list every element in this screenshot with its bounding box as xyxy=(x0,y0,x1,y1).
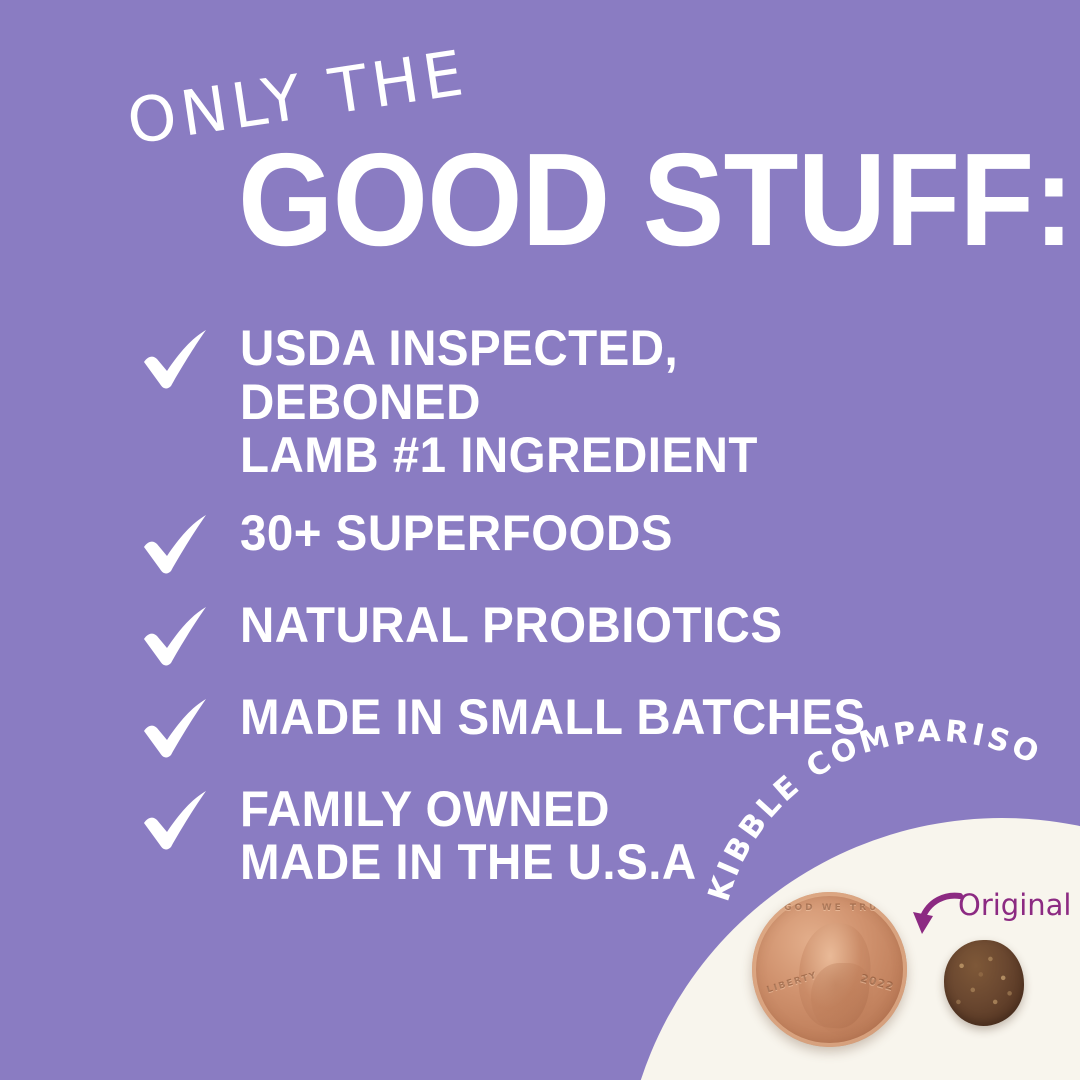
kibble-piece-image xyxy=(944,940,1024,1026)
list-item: 30+ SUPERFOODS xyxy=(140,507,960,575)
check-icon xyxy=(140,507,240,575)
headline-block: ONLY THE GOOD STUFF: xyxy=(0,52,1080,272)
list-item: NATURAL PROBIOTICS xyxy=(140,599,960,667)
check-icon xyxy=(140,599,240,667)
check-icon xyxy=(140,691,240,759)
list-item-label: MADE IN SMALL BATCHES xyxy=(240,691,866,745)
list-item: FAMILY OWNED MADE IN THE U.S.A xyxy=(140,783,960,890)
kibble-original-label: Original xyxy=(958,888,1071,922)
list-item: MADE IN SMALL BATCHES xyxy=(140,691,960,759)
list-item-label: FAMILY OWNED MADE IN THE U.S.A xyxy=(240,783,697,890)
page-title: GOOD STUFF: xyxy=(238,134,1073,266)
benefits-list: USDA INSPECTED, DEBONED LAMB #1 INGREDIE… xyxy=(140,322,960,914)
kibble-texture xyxy=(944,940,1024,1026)
check-icon xyxy=(140,322,240,390)
list-item-label: USDA INSPECTED, DEBONED LAMB #1 INGREDIE… xyxy=(240,322,924,483)
list-item-label: 30+ SUPERFOODS xyxy=(240,507,673,561)
list-item-label: NATURAL PROBIOTICS xyxy=(240,599,782,653)
check-icon xyxy=(140,783,240,851)
poster-canvas: ONLY THE GOOD STUFF: USDA INSPECTED, DEB… xyxy=(0,0,1080,1080)
penny-coin-image: IN GOD WE TRUST LIBERTY 2022 xyxy=(752,892,907,1047)
list-item: USDA INSPECTED, DEBONED LAMB #1 INGREDIE… xyxy=(140,322,960,483)
penny-motto-text: IN GOD WE TRUST xyxy=(752,903,907,913)
